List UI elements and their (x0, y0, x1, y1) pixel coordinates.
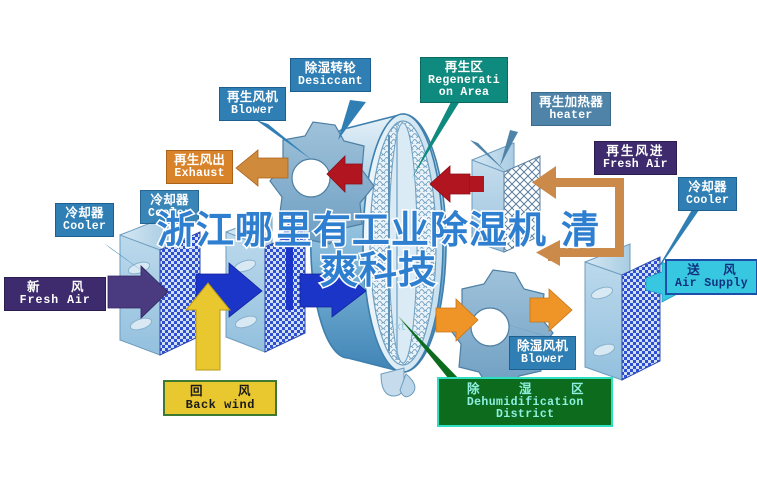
label-back-wind-cn: 回 风 (174, 385, 266, 399)
label-regeneration-area[interactable]: 再生区 Regenerati on Area (420, 57, 508, 103)
label-regen-exhaust[interactable]: 再生风出 Exhaust (166, 150, 233, 184)
label-regen-fresh-air-cn: 再生风进 (603, 145, 668, 159)
label-regen-blower-en: Blower (227, 105, 278, 117)
label-fresh-air-en: Fresh Air (13, 295, 97, 307)
arrow-regen-fresh-air-path (532, 166, 624, 266)
label-air-supply-cn: 送 风 (675, 264, 748, 278)
label-back-wind-en: Back wind (174, 399, 266, 412)
label-dehum-district-en2: District (449, 409, 601, 421)
label-cooler-left-2[interactable]: 冷却器 Cooler (140, 190, 199, 224)
label-regen-blower-cn: 再生风机 (227, 91, 278, 105)
label-regen-blower[interactable]: 再生风机 Blower (219, 87, 286, 121)
label-regen-exhaust-cn: 再生风出 (174, 154, 225, 168)
label-cooler-left-1-en: Cooler (63, 221, 106, 233)
label-dehum-district-cn: 除 湿 区 (449, 383, 601, 397)
label-air-supply-en: Air Supply (675, 278, 748, 290)
label-desiccant-rotor[interactable]: 除湿转轮 Desiccant (290, 58, 371, 92)
label-cooler-left-2-en: Cooler (148, 208, 191, 220)
label-regen-heater-cn: 再生加热器 (539, 96, 603, 110)
cooler-unit-right (585, 244, 660, 380)
label-desiccant-rotor-cn: 除湿转轮 (298, 62, 363, 76)
label-cooler-left-1[interactable]: 冷却器 Cooler (55, 203, 114, 237)
label-dehum-blower[interactable]: 除湿风机 Blower (509, 336, 576, 370)
dehumidifier-rotor-diagram: xt (0, 0, 757, 488)
label-dehum-blower-cn: 除湿风机 (517, 340, 568, 354)
label-cooler-left-2-cn: 冷却器 (148, 194, 191, 208)
label-fresh-air-cn: 新 风 (13, 281, 97, 295)
label-regeneration-area-cn: 再生区 (428, 61, 500, 75)
label-regen-heater[interactable]: 再生加热器 heater (531, 92, 611, 126)
label-desiccant-rotor-en: Desiccant (298, 76, 363, 88)
label-cooler-right-cn: 冷却器 (686, 181, 729, 195)
label-regen-heater-en: heater (539, 110, 603, 122)
label-fresh-air[interactable]: 新 风 Fresh Air (4, 277, 106, 311)
label-regen-exhaust-en: Exhaust (174, 168, 225, 180)
rotor-watermark-text: xt (395, 320, 407, 333)
label-regen-fresh-air-en: Fresh Air (603, 159, 668, 171)
label-regen-fresh-air[interactable]: 再生风进 Fresh Air (594, 141, 677, 175)
label-dehum-blower-en: Blower (517, 354, 568, 366)
label-air-supply[interactable]: 送 风 Air Supply (665, 259, 757, 295)
label-cooler-left-1-cn: 冷却器 (63, 207, 106, 221)
label-cooler-right[interactable]: 冷却器 Cooler (678, 177, 737, 211)
diagram-canvas: xt (0, 0, 757, 488)
label-cooler-right-en: Cooler (686, 195, 729, 207)
label-back-wind[interactable]: 回 风 Back wind (163, 380, 277, 416)
regeneration-heater (472, 143, 540, 252)
label-regeneration-area-en2: on Area (428, 87, 500, 99)
label-dehumidification-district[interactable]: 除 湿 区 Dehumidification District (437, 377, 613, 427)
